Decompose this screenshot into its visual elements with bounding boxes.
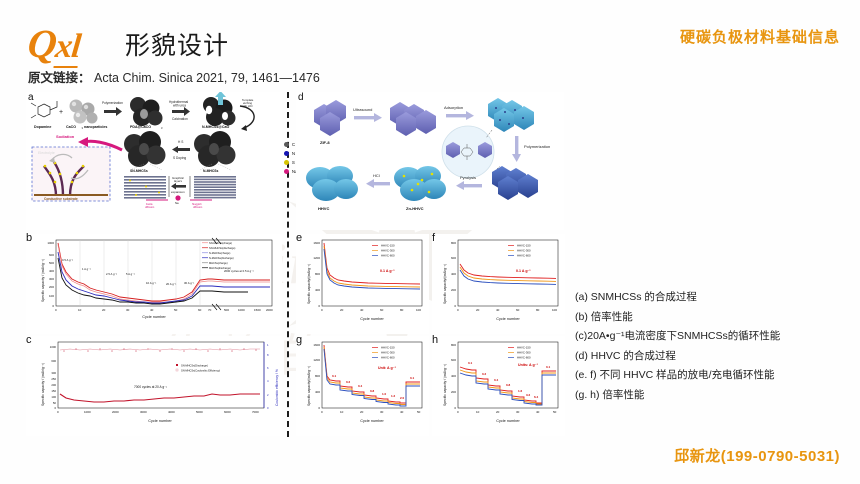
svg-text:40: 40 [400,410,404,414]
chart-c-svg: 010002000 300040005000 60007000 050100 1… [26,336,282,436]
svg-text:HHVC-150: HHVC-150 [517,244,531,248]
panel-c-label: c [26,334,32,346]
footer-contact: 邱新龙(199-0790-5031) [674,445,840,466]
svg-text:800: 800 [451,343,456,347]
svg-text:2.5 A g⁻¹: 2.5 A g⁻¹ [106,272,117,276]
svg-text:0: 0 [57,410,59,414]
svg-text:Dopamine: Dopamine [34,125,51,129]
caption-list: (a) SNMHCSs 的合成过程 (b) 倍率性能 (c)20A•g⁻¹电流密… [575,288,853,405]
svg-text:layers: layers [174,179,183,183]
svg-text:1600: 1600 [313,241,320,245]
svg-text:N-MHCSs(charge): N-MHCSs(charge) [209,251,230,255]
svg-text:HHVC-600: HHVC-600 [381,254,395,258]
source-line: 原文链接： Acta Chim. Sinica 2021, 79, 1461—1… [28,67,320,86]
svg-text:0.2: 0.2 [346,380,351,384]
svg-text:400: 400 [49,269,54,273]
svg-text:1.2: 1.2 [391,394,396,398]
svg-text:400: 400 [315,288,320,292]
schematic-a-graphic: + Polymerization Hydrothermal w [26,92,282,230]
svg-text:Polymerization: Polymerization [524,144,550,149]
svg-text:6.4: 6.4 [534,395,539,399]
svg-text:1.6: 1.6 [518,389,523,393]
svg-text:1600: 1600 [313,343,320,347]
svg-text:HHVC-300: HHVC-300 [517,351,531,355]
svg-text:Calcination: Calcination [172,117,188,121]
svg-text:Specific capacity/(mAhg⁻¹): Specific capacity/(mAhg⁻¹) [443,264,447,304]
svg-text:Cycle number: Cycle number [360,317,384,321]
panel-h-label: h [432,334,438,346]
figure-panel-d: d ZIF-8 Ultrasound [296,92,564,230]
svg-text:Pyrolysis: Pyrolysis [460,175,476,180]
svg-text:8: 8 [267,353,269,357]
svg-text:0.1 A g⁻¹: 0.1 A g⁻¹ [380,269,395,273]
svg-text:7000: 7000 [252,410,259,414]
brand-logo: Qxl [26,20,83,67]
svg-text:60: 60 [380,308,384,312]
panel-e-label: e [296,232,302,244]
svg-text:40: 40 [150,308,154,312]
svg-text:MHCSs(charge): MHCSs(charge) [209,261,228,265]
svg-text:Specific capacity / (mAhg⁻¹): Specific capacity / (mAhg⁻¹) [443,364,447,406]
svg-text:SN-MHCSs(Coulombic Efficiency): SN-MHCSs(Coulombic Efficiency) [181,368,220,372]
svg-text:0.8: 0.8 [506,383,511,387]
svg-text:100: 100 [552,308,557,312]
svg-text:Na: Na [175,201,179,205]
svg-text:80: 80 [400,308,404,312]
svg-text:diffusion: diffusion [193,206,203,209]
svg-text:PDA@CaCO: PDA@CaCO [130,125,151,129]
svg-text:HCl: HCl [373,173,380,178]
svg-text:60: 60 [516,308,520,312]
svg-text:0: 0 [457,308,459,312]
svg-text:nanoparticles: nanoparticles [84,125,107,129]
caption-ef: (e. f) 不同 HHVC 样品的放电/充电循环性能 [575,366,853,386]
svg-text:50: 50 [174,308,178,312]
svg-text:600: 600 [49,253,54,257]
panel-b-label: b [26,232,32,244]
svg-text:1000: 1000 [84,410,91,414]
svg-text:with HCl: with HCl [242,104,253,108]
svg-text:SN-MHCSs(Discharge): SN-MHCSs(Discharge) [181,363,208,367]
panel-g-label: g [296,334,302,346]
svg-text:2.0: 2.0 [400,396,405,400]
svg-text:Polymerization: Polymerization [102,101,123,105]
svg-text:with urea: with urea [173,104,186,108]
svg-text:0.5 A g⁻¹: 0.5 A g⁻¹ [62,258,73,262]
svg-text:400: 400 [451,272,456,276]
svg-text:H S: H S [178,140,183,144]
svg-text:200: 200 [451,390,456,394]
svg-text:Specific capacity / (mAh/g⁻¹): Specific capacity / (mAh/g⁻¹) [41,259,45,302]
svg-text:expansion: expansion [171,190,185,194]
svg-text:Cycle number: Cycle number [360,419,384,423]
svg-text:Cycle number: Cycle number [496,317,520,321]
svg-text:5 A g⁻¹: 5 A g⁻¹ [126,272,135,276]
svg-text:6: 6 [267,366,269,370]
svg-text:40: 40 [360,308,364,312]
svg-text:5000: 5000 [196,410,203,414]
svg-text:200: 200 [451,288,456,292]
svg-text:0: 0 [55,308,57,312]
svg-text:500: 500 [49,261,54,265]
chart-e-svg: 02040 6080100 0400800 12001600 Specific … [296,234,429,334]
panel-f-label: f [432,232,435,244]
svg-text:Cycle number: Cycle number [496,419,520,423]
svg-text:0: 0 [457,410,459,414]
schematic-d-graphic: ZIF-8 Ultrasound Adsorption [296,92,564,230]
svg-text:0: 0 [321,308,323,312]
svg-text:0: 0 [267,406,269,410]
svg-text:HHVC-150: HHVC-150 [381,346,395,350]
svg-text:S Doping: S Doping [173,156,186,160]
page-title: 形貌设计 [125,26,229,62]
svg-text:10: 10 [78,308,82,312]
svg-text:Unit: A g⁻¹: Unit: A g⁻¹ [378,366,397,370]
svg-text:2000: 2000 [112,410,119,414]
svg-text:Zn-HHVC: Zn-HHVC [406,206,424,211]
svg-text:N-MHCSs@CaO: N-MHCSs@CaO [202,125,229,129]
svg-text:HHVC-300: HHVC-300 [381,249,395,253]
svg-text:Sodiation: Sodiation [56,134,75,139]
svg-text:10 A g⁻¹: 10 A g⁻¹ [146,281,156,285]
svg-text:ZIF-8: ZIF-8 [320,140,330,145]
caption-gh: (g. h) 倍率性能 [575,386,853,406]
svg-text:300: 300 [49,277,54,281]
figure-panel-a: a + Polymerization [26,92,282,230]
caption-d: (d) HHVC 的合成过程 [575,347,853,367]
svg-text:0.1 A g⁻¹: 0.1 A g⁻¹ [516,269,531,273]
svg-text:80: 80 [536,308,540,312]
svg-text:100: 100 [49,294,54,298]
panel-d-label: d [298,92,304,103]
svg-text:SN-MHCSs(charge): SN-MHCSs(charge) [209,241,232,245]
figure-panel-h: h 01020 304050 0200400 600800 Specific c… [432,336,565,436]
svg-text:7000 cycles at 20 A g⁻¹: 7000 cycles at 20 A g⁻¹ [134,385,167,389]
svg-text:20: 20 [476,308,480,312]
svg-text:50: 50 [417,410,421,414]
svg-text:diffusion: diffusion [145,206,155,209]
svg-text:0.4: 0.4 [494,378,499,382]
svg-text:CaCO: CaCO [66,125,76,129]
svg-text:Specific capacity/(mAhg⁻¹): Specific capacity/(mAhg⁻¹) [307,264,311,304]
svg-text:N-MHCSs(discharge): N-MHCSs(discharge) [209,256,234,260]
svg-text:30 A g⁻¹: 30 A g⁻¹ [184,281,194,285]
svg-text:20: 20 [360,410,364,414]
svg-text:1000: 1000 [238,308,245,312]
svg-text:HHVC-600: HHVC-600 [381,356,395,360]
svg-text:50: 50 [553,410,557,414]
svg-text:30: 30 [380,410,384,414]
caption-a: (a) SNMHCSs 的合成过程 [575,288,853,308]
svg-text:400: 400 [315,390,320,394]
svg-text:300: 300 [51,371,56,375]
source-value: Acta Chim. Sinica 2021, 79, 1461—1476 [94,71,320,85]
chart-h-svg: 01020 304050 0200400 600800 Specific cap… [432,336,565,436]
svg-text:0.1: 0.1 [546,365,551,369]
svg-text:1200: 1200 [313,358,320,362]
svg-text:Conductive substrate: Conductive substrate [44,197,78,201]
svg-text:Ultrasound: Ultrasound [353,107,372,112]
svg-text:N-MHCSs: N-MHCSs [203,169,219,173]
svg-text:6000: 6000 [224,410,231,414]
chart-g-svg: 01020 304050 0400800 12001600 Specific c… [296,336,429,436]
figure-panel-f: f 02040 6080100 0200400 600800 Specific … [432,234,565,334]
svg-text:Coulombic efficiency / %: Coulombic efficiency / % [275,369,279,406]
svg-text:1200: 1200 [313,256,320,260]
svg-text:10: 10 [476,410,480,414]
svg-text:HHVC-150: HHVC-150 [381,244,395,248]
svg-text:20 A g⁻¹: 20 A g⁻¹ [166,282,176,286]
svg-text:20: 20 [340,308,344,312]
svg-text:100: 100 [51,395,56,399]
svg-text:400: 400 [451,374,456,378]
svg-text:800: 800 [315,374,320,378]
caption-c: (c)20A•g⁻¹电流密度下SNMHCSs的循环性能 [575,327,853,347]
svg-text:600: 600 [451,256,456,260]
svg-text:HHVC-150: HHVC-150 [517,346,531,350]
svg-text:100: 100 [416,308,421,312]
svg-text:HHVC-300: HHVC-300 [517,249,531,253]
svg-text:40: 40 [536,410,540,414]
svg-text:70: 70 [208,308,212,312]
svg-text:Cycle number: Cycle number [142,315,166,319]
svg-text:600: 600 [51,359,56,363]
svg-text:250: 250 [51,377,56,381]
panel-a-label: a [28,92,34,103]
figure-panel-e: e 02040 6080100 0400800 12001600 Specifi… [296,234,429,334]
svg-text:0: 0 [321,410,323,414]
svg-text:20: 20 [102,308,106,312]
svg-text:600: 600 [451,358,456,362]
svg-text:4: 4 [267,379,269,383]
svg-text:HHVC-600: HHVC-600 [517,254,531,258]
svg-text:0.1: 0.1 [332,374,337,378]
figure-panel-c: c 010002000 300040005000 60007000 [26,336,282,436]
svg-text:0.1: 0.1 [410,376,415,380]
svg-text:HHVC: HHVC [318,206,329,211]
svg-text:800: 800 [315,272,320,276]
svg-text:Cycle number: Cycle number [148,419,172,423]
figure-panel-b: b 01020 304050 6070 5001000 15002000 010… [26,234,282,334]
svg-text:MHCSs(discharge): MHCSs(discharge) [209,266,231,270]
svg-text:Electrolyte: Electrolyte [38,151,55,155]
svg-text:HHVC-600: HHVC-600 [517,356,531,360]
svg-text:SN-MHCSs(discharge): SN-MHCSs(discharge) [209,246,236,250]
svg-text:0.2: 0.2 [482,372,487,376]
header-right-text: 硬碳负极材料基础信息 [680,26,840,47]
svg-text:Specific capacity/(mAhg⁻¹): Specific capacity/(mAhg⁻¹) [307,366,311,406]
svg-text:30: 30 [126,308,130,312]
svg-text:150: 150 [51,389,56,393]
svg-text:2: 2 [267,393,269,397]
svg-text:1000: 1000 [47,241,54,245]
svg-text:1 A g⁻¹: 1 A g⁻¹ [82,267,91,271]
svg-text:200: 200 [49,285,54,289]
svg-text:+: + [59,109,63,116]
svg-text:0.8: 0.8 [370,389,375,393]
svg-text:0.1: 0.1 [468,361,473,365]
svg-text:10: 10 [340,410,344,414]
chart-f-svg: 02040 6080100 0200400 600800 Specific ca… [432,234,565,334]
slide-root: ✶ Qiuxinlong 佑烽的旺 Qxl 形貌设计 原文链接： Acta Ch… [0,0,860,484]
svg-text:4000: 4000 [168,410,175,414]
svg-text:SN-MHCSs: SN-MHCSs [130,169,148,173]
svg-text:0.4: 0.4 [358,384,363,388]
svg-text:1000: 1000 [50,345,57,349]
svg-text:1500: 1500 [254,308,261,312]
chart-b-svg: 01020 304050 6070 5001000 15002000 01002… [26,234,282,334]
svg-text:Units: A g⁻¹: Units: A g⁻¹ [518,363,539,367]
svg-text:50: 50 [53,401,57,405]
svg-text:800: 800 [451,241,456,245]
svg-text:30: 30 [516,410,520,414]
svg-text:200: 200 [51,383,56,387]
svg-text:2000: 2000 [266,308,273,312]
svg-text:500: 500 [224,308,229,312]
svg-text:1.0: 1.0 [382,392,387,396]
svg-text:40: 40 [496,308,500,312]
svg-text:Specific capacity / (mAh/g⁻¹): Specific capacity / (mAh/g⁻¹) [41,363,45,406]
figure-panel-g: g 01020 304050 0400800 12001600 Specific… [296,336,429,436]
svg-text:20: 20 [496,410,500,414]
source-label: 原文链接： [28,71,91,85]
svg-text:3: 3 [161,126,163,130]
svg-text:3000: 3000 [140,410,147,414]
svg-text:HHVC-300: HHVC-300 [381,351,395,355]
caption-b: (b) 倍率性能 [575,308,853,328]
svg-text:1: 1 [267,343,269,347]
svg-text:3.2: 3.2 [526,393,531,397]
svg-text:Adsorption: Adsorption [444,105,463,110]
svg-text:60: 60 [198,308,202,312]
